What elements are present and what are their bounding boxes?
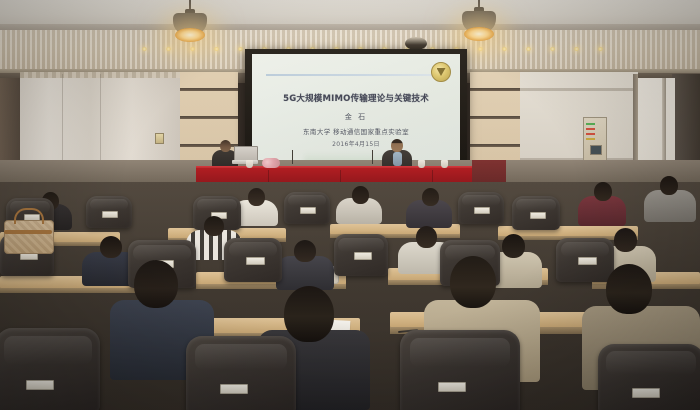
slide-title: 5G大规模MIMO传输理论与关键技术 <box>252 92 460 104</box>
ceiling-downlight <box>550 47 555 51</box>
water-cup <box>441 160 448 168</box>
audience-head <box>614 228 637 252</box>
audience-head <box>204 216 224 236</box>
audience-head <box>100 236 122 258</box>
ceiling-downlight <box>190 47 195 51</box>
chair[interactable] <box>512 196 560 230</box>
audience-head <box>606 264 652 314</box>
control-panel-display <box>590 145 602 155</box>
water-cup <box>418 160 425 168</box>
university-emblem-icon <box>431 62 451 82</box>
audience-head <box>284 286 334 342</box>
wood-panel-seam <box>180 116 238 119</box>
chair[interactable] <box>224 238 282 282</box>
ceiling-downlight <box>238 47 243 51</box>
control-panel-led <box>586 128 595 130</box>
presentation-slide: 5G大规模MIMO传输理论与关键技术 金 石 东南大学 移动通信国家重点实验室 … <box>252 54 460 166</box>
wood-panel-seam <box>470 116 522 119</box>
audience-head <box>660 176 678 195</box>
lecture-hall-photo: 5G大规模MIMO传输理论与关键技术 金 石 东南大学 移动通信国家重点实验室 … <box>0 0 700 410</box>
chair-name-tag <box>438 382 466 392</box>
wood-panel-seam <box>470 144 522 147</box>
slide-header-rule <box>266 74 436 76</box>
ceiling-downlight <box>502 47 507 51</box>
pendant-light-glow <box>175 28 205 42</box>
wood-panel-seam <box>470 88 522 91</box>
chair[interactable] <box>284 192 330 224</box>
pendant-light-glow <box>464 27 494 41</box>
control-panel-led <box>586 123 595 125</box>
audience-head <box>422 188 439 206</box>
chair-name-tag <box>300 207 316 214</box>
chair-name-tag <box>474 207 490 214</box>
audience-head <box>502 234 525 258</box>
chair[interactable] <box>598 344 700 410</box>
ceiling-downlight <box>598 47 603 51</box>
chair-name-tag <box>26 380 54 390</box>
handbag <box>4 220 54 254</box>
wall-trim-stripe <box>520 88 638 91</box>
chair[interactable] <box>0 328 100 410</box>
audience-head <box>248 188 265 206</box>
chair-name-tag <box>102 211 118 218</box>
speaker-head <box>391 139 403 152</box>
ceiling-downlight <box>166 47 171 51</box>
ceiling-downlight <box>574 47 579 51</box>
audience-head <box>294 240 316 262</box>
chair-name-tag <box>246 257 265 265</box>
audience-head <box>352 186 369 204</box>
microphone-stand <box>292 150 293 164</box>
control-panel-led <box>586 138 595 140</box>
speaker-shirt <box>393 152 402 166</box>
chair-name-tag <box>578 257 597 265</box>
chair[interactable] <box>86 196 132 228</box>
slide-speaker-name: 金 石 <box>252 112 460 122</box>
chair[interactable] <box>186 336 296 410</box>
ceiling-downlight <box>526 47 531 51</box>
light-switch[interactable] <box>155 133 164 144</box>
water-cup <box>246 160 253 168</box>
desk-edge <box>0 288 150 293</box>
chair[interactable] <box>556 238 614 282</box>
table-flowers <box>262 158 280 168</box>
handbag-trim <box>4 230 52 234</box>
chair[interactable] <box>334 234 388 276</box>
presenter-laptop-base[interactable] <box>232 160 258 164</box>
ceiling-downlight <box>214 47 219 51</box>
handbag-handle <box>14 208 44 224</box>
audience-head <box>450 256 496 308</box>
chair-name-tag <box>632 388 660 398</box>
audience-head <box>134 260 178 308</box>
slide-date: 2016年4月15日 <box>252 139 460 148</box>
slide-affiliation: 东南大学 移动通信国家重点实验室 <box>252 126 460 136</box>
control-panel-led <box>586 133 595 135</box>
chair[interactable] <box>400 330 520 410</box>
ceiling-upper-surface <box>0 0 700 26</box>
chair-name-tag <box>530 212 546 219</box>
chair-name-tag <box>220 384 248 394</box>
audience-head <box>594 182 612 201</box>
ceiling-downlight <box>478 47 483 51</box>
chair-name-tag <box>354 252 372 260</box>
chair[interactable] <box>458 192 504 224</box>
wood-panel-seam <box>180 88 238 91</box>
ceiling-downlight <box>142 47 147 51</box>
microphone-stand <box>372 150 373 164</box>
audience-head <box>416 226 437 248</box>
seated-presenter-left-head <box>220 140 231 152</box>
